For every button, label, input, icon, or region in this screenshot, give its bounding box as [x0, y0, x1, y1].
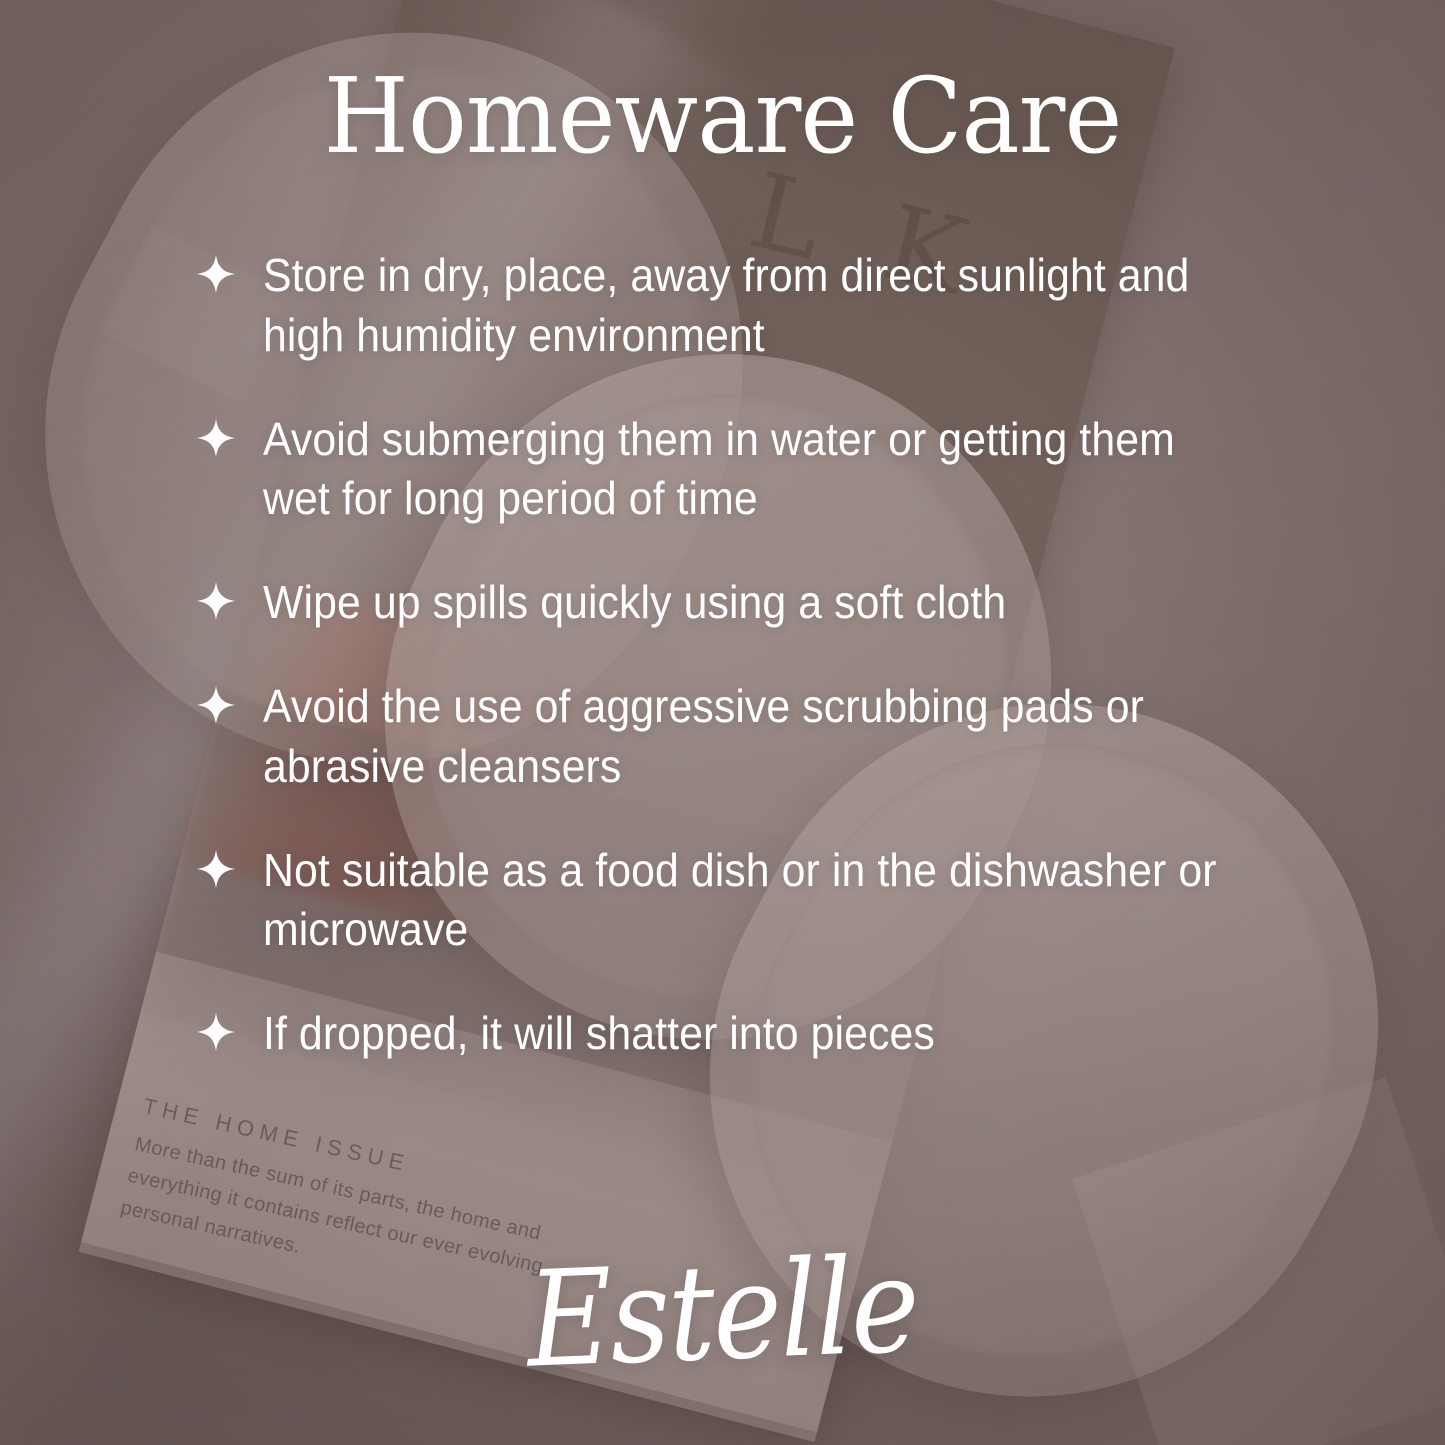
- list-item-label: If dropped, it will shatter into pieces: [263, 1004, 935, 1064]
- list-item: Wipe up spills quickly using a soft clot…: [196, 573, 1316, 633]
- list-item-label: Store in dry, place, away from direct su…: [263, 246, 1242, 366]
- card-content: Homeware Care Store in dry, place, away …: [0, 0, 1445, 1445]
- sparkle-icon: [196, 847, 236, 891]
- sparkle-icon: [196, 683, 236, 727]
- list-item-label: Wipe up spills quickly using a soft clot…: [263, 573, 1006, 633]
- list-item: Not suitable as a food dish or in the di…: [196, 841, 1316, 961]
- sparkle-icon: [196, 1010, 236, 1054]
- homeware-care-card: L K THE HOME ISSUE More than the sum of …: [0, 0, 1445, 1445]
- list-item: Avoid the use of aggressive scrubbing pa…: [196, 677, 1316, 797]
- sparkle-icon: [196, 252, 236, 296]
- list-item-label: Avoid the use of aggressive scrubbing pa…: [263, 677, 1242, 797]
- sparkle-icon: [196, 416, 236, 460]
- sparkle-icon: [196, 579, 236, 623]
- list-item-label: Avoid submerging them in water or gettin…: [263, 410, 1242, 530]
- page-title: Homeware Care: [43, 62, 1401, 171]
- list-item: Store in dry, place, away from direct su…: [196, 246, 1316, 366]
- list-item-label: Not suitable as a food dish or in the di…: [263, 841, 1242, 961]
- list-item: Avoid submerging them in water or gettin…: [196, 410, 1316, 530]
- brand-signature: Estelle: [85, 1222, 1360, 1404]
- list-item: If dropped, it will shatter into pieces: [196, 1004, 1316, 1064]
- care-instructions-list: Store in dry, place, away from direct su…: [196, 246, 1316, 1064]
